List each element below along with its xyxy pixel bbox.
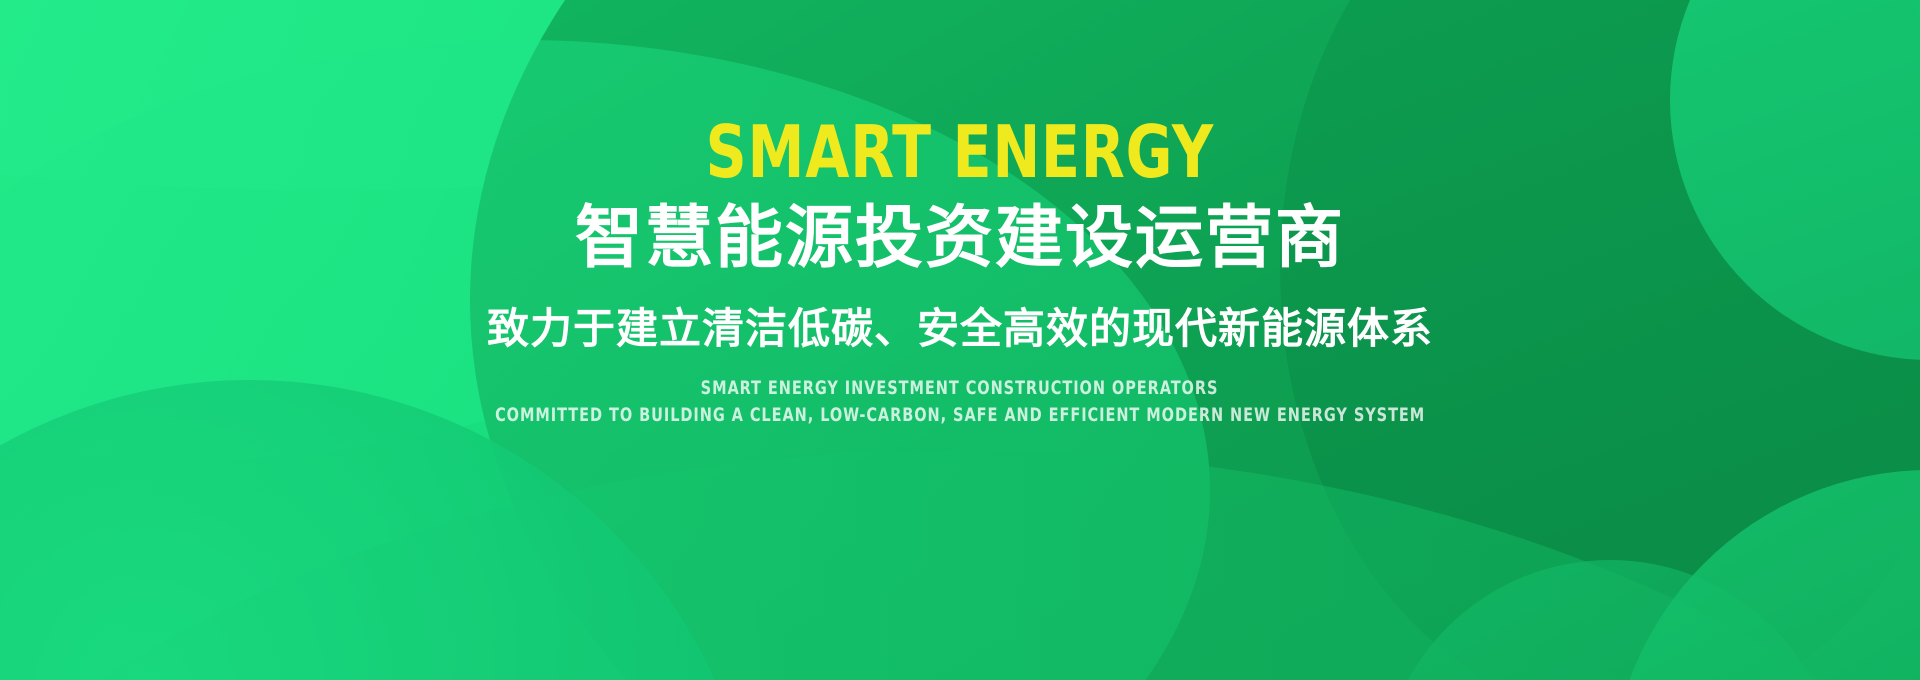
banner-subtitle-chinese: 致力于建立清洁低碳、安全高效的现代新能源体系 xyxy=(487,305,1433,353)
banner-subtitle-english-line-2: COMMITTED TO BUILDING A CLEAN, LOW-CARBO… xyxy=(495,403,1425,428)
banner-subtitle-english-line-1: SMART ENERGY INVESTMENT CONSTRUCTION OPE… xyxy=(701,376,1219,401)
banner-title-english: SMART ENERGY xyxy=(706,116,1214,188)
hero-banner: SMART ENERGY 智慧能源投资建设运营商 致力于建立清洁低碳、安全高效的… xyxy=(0,0,1920,680)
banner-content: SMART ENERGY 智慧能源投资建设运营商 致力于建立清洁低碳、安全高效的… xyxy=(0,0,1920,680)
banner-title-chinese: 智慧能源投资建设运营商 xyxy=(575,202,1345,275)
